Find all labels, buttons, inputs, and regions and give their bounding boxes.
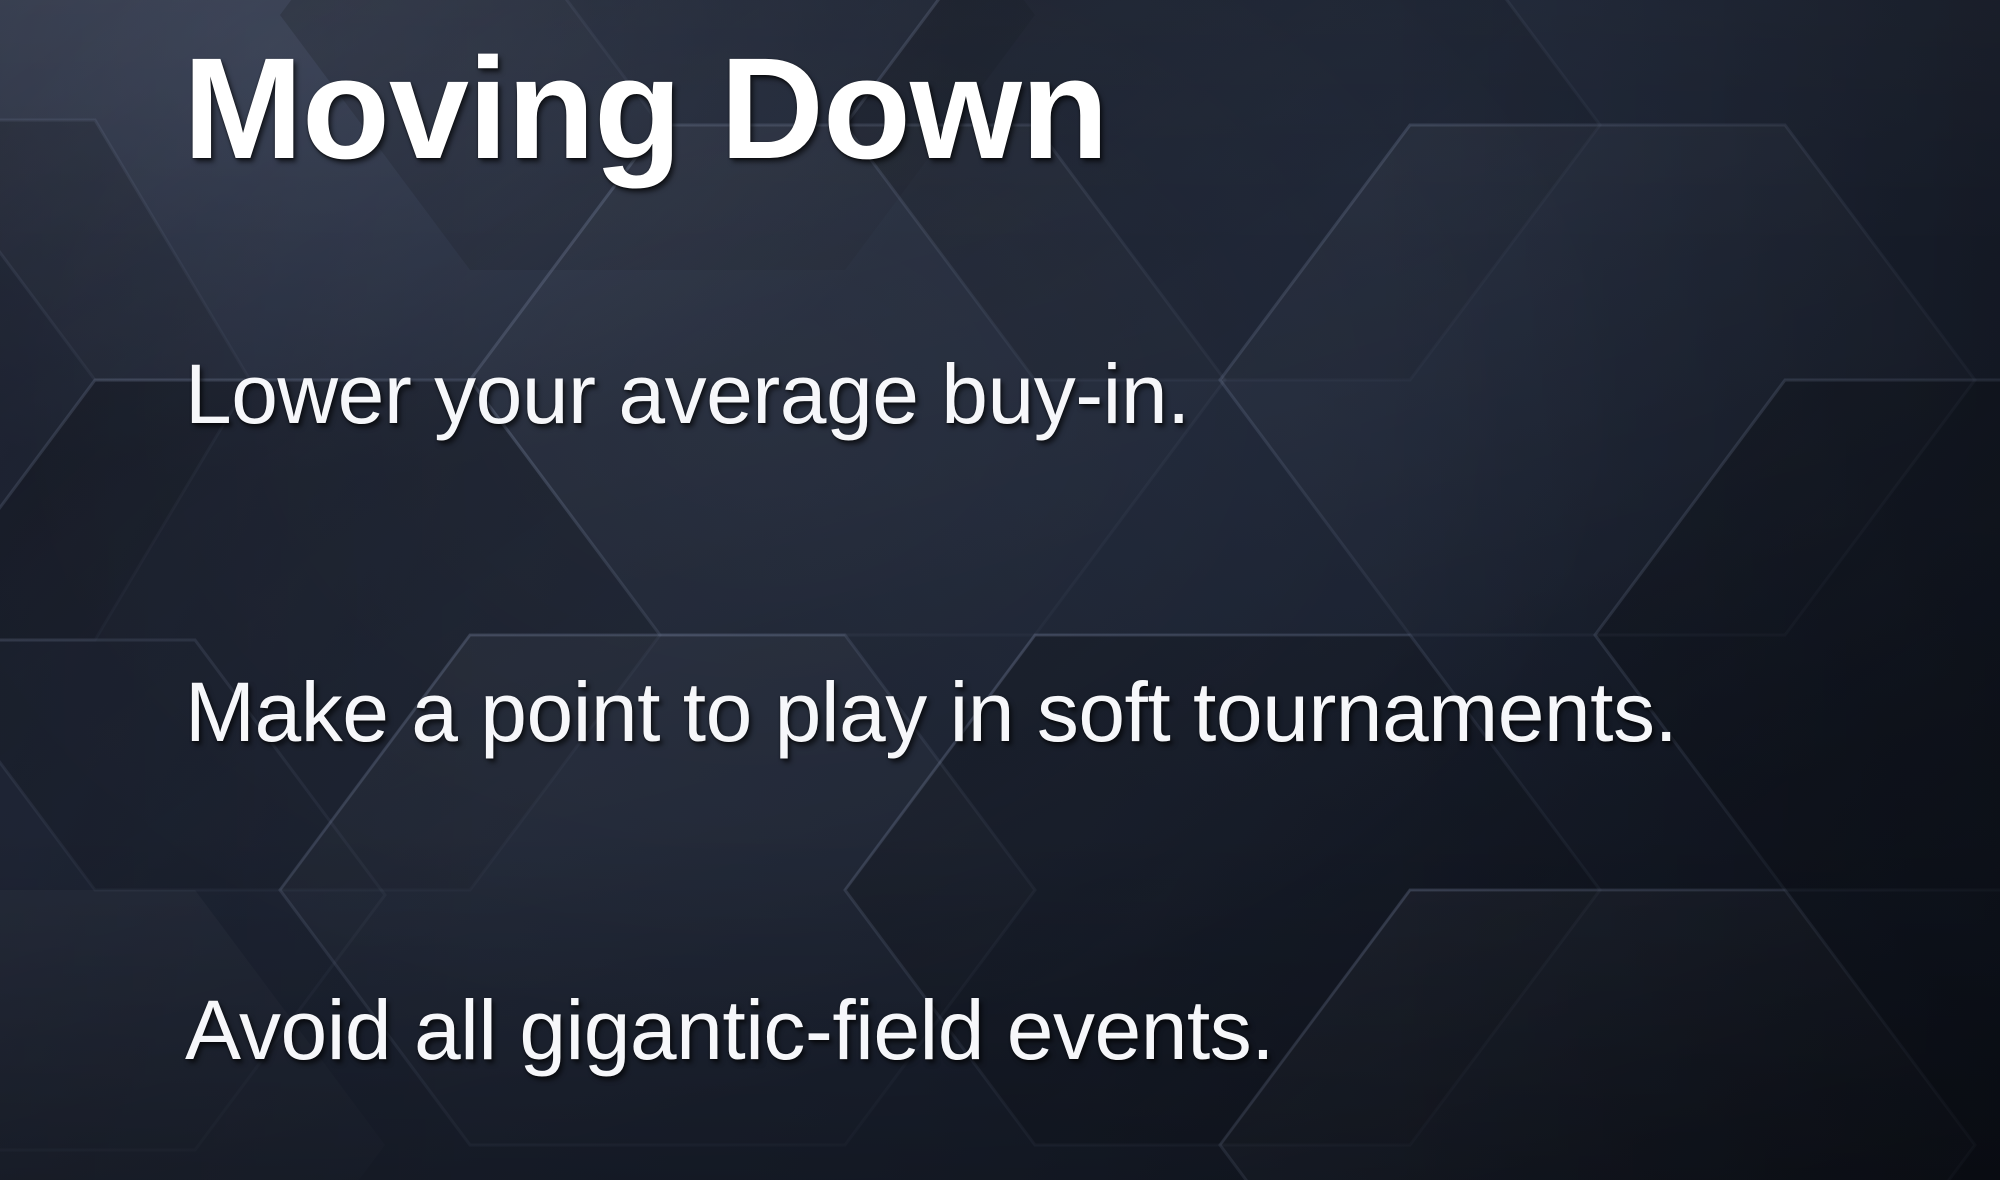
bullet-item-3: Avoid all gigantic-field events. [185,988,1945,1072]
bullet-item-2: Make a point to play in soft tournaments… [185,670,1945,988]
slide-title: Moving Down [183,30,1108,188]
bullet-item-1: Lower your average buy-in. [185,352,1945,670]
slide-content: Moving Down Lower your average buy-in. M… [0,0,2000,1180]
presentation-slide: Moving Down Lower your average buy-in. M… [0,0,2000,1180]
bullet-list: Lower your average buy-in. Make a point … [185,352,1945,1072]
